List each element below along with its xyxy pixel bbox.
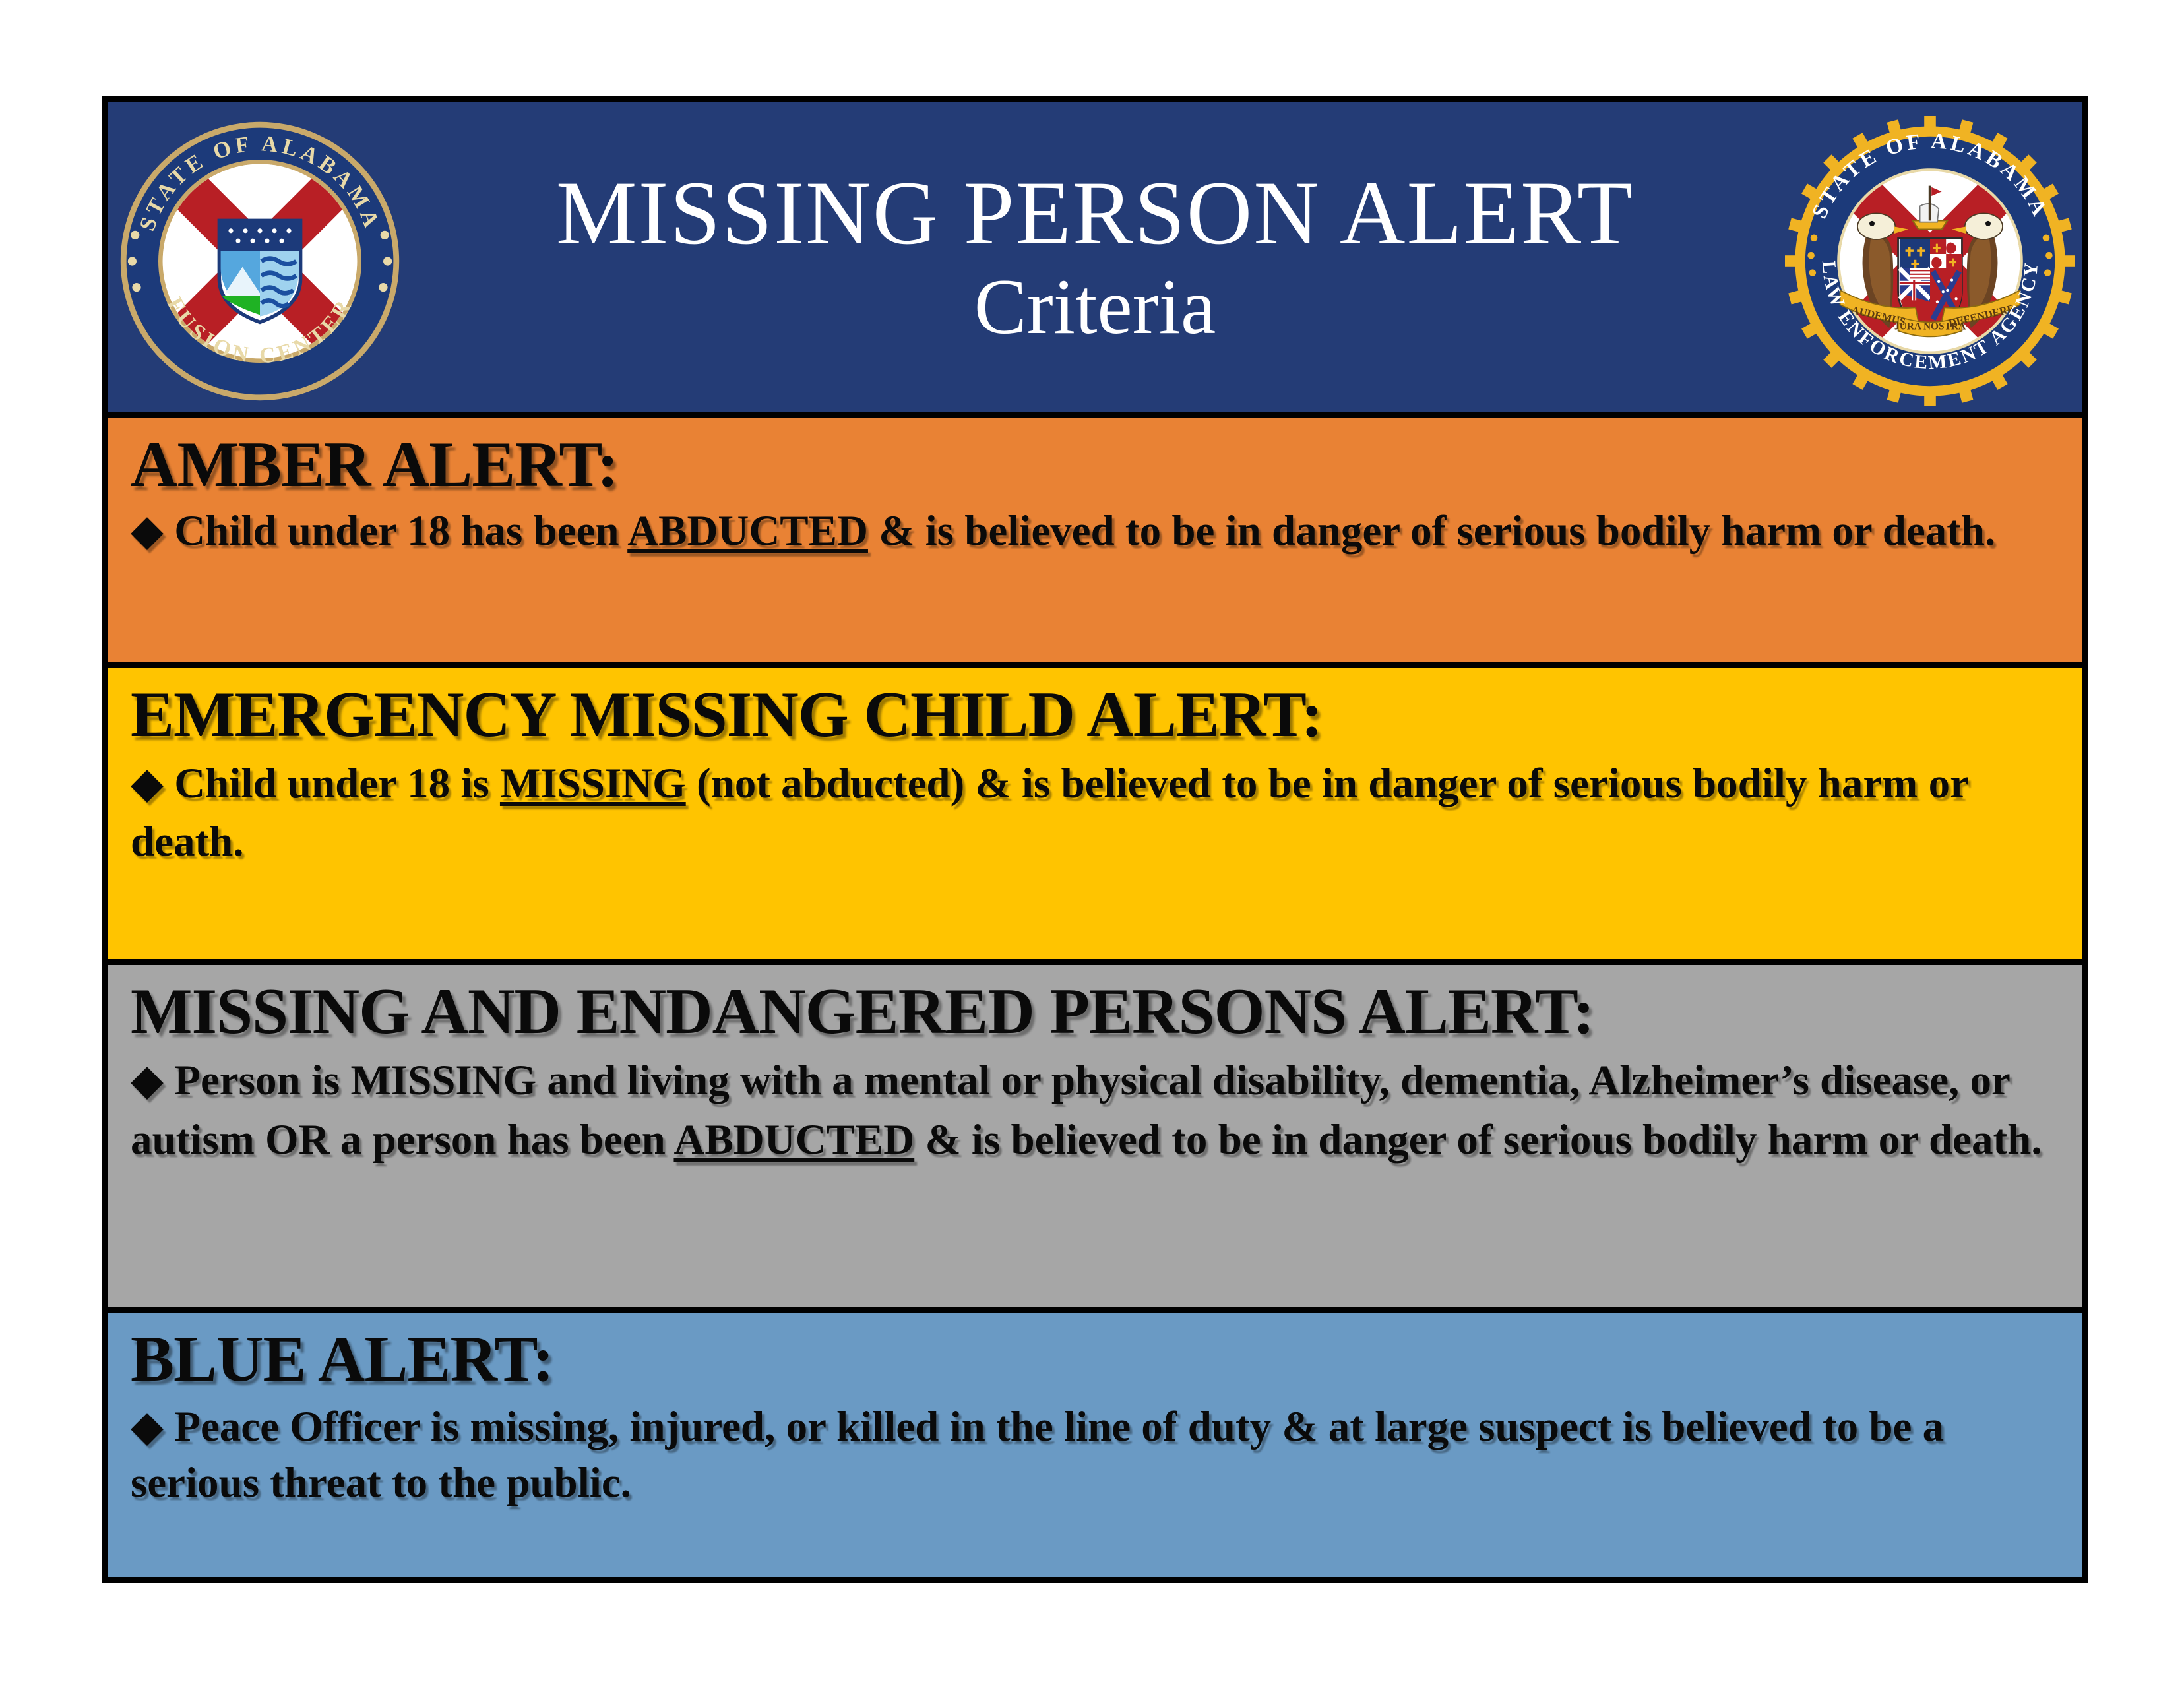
emergency-missing-child-alert-body: ◆ Child under 18 is MISSING (not abducte… [131,755,2059,871]
amber-alert-text-part-3: & is believed to be in danger of serious… [868,507,1995,555]
missing-and-endangered-persons-alert-section: MISSING AND ENDANGERED PERSONS ALERT: ◆ … [108,965,2082,1313]
emergency-missing-child-alert-title: EMERGENCY MISSING CHILD ALERT: [131,680,2059,751]
endangered-text-part-3: & is believed to be in danger of serious… [914,1116,2042,1164]
amber-alert-title: AMBER ALERT: [131,430,2059,501]
missing-and-endangered-persons-alert-title: MISSING AND ENDANGERED PERSONS ALERT: [131,977,2059,1047]
poster-header: STATE OF ALABAMA FUSION CENTER MISSING P… [108,102,2082,418]
amber-alert-body: ◆ Child under 18 has been ABDUCTED & is … [131,505,2059,558]
endangered-emphasis-abducted: ABDUCTED [673,1116,914,1164]
page-subtitle: Criteria [974,264,1216,350]
alabama-fusion-center-seal-icon: STATE OF ALABAMA FUSION CENTER [115,116,405,406]
alabama-law-enforcement-agency-seal-icon: AUDEMUS DEFENDERE JURA NOSTRA STATE OF A… [1785,116,2075,406]
amber-alert-emphasis-abducted: ABDUCTED [627,507,868,555]
blue-alert-body: ◆ Peace Officer is missing, injured, or … [131,1399,2059,1511]
header-title-block: MISSING PERSON ALERT Criteria [418,102,1772,412]
blue-alert-text-part-1: ◆ Peace Officer is missing, injured, or … [131,1403,1944,1507]
blue-alert-section: BLUE ALERT: ◆ Peace Officer is missing, … [108,1313,2082,1577]
emergency-missing-child-emphasis-missing: MISSING [500,760,686,807]
amber-alert-text-part-1: ◆ Child under 18 has been [131,507,627,555]
page-title: MISSING PERSON ALERT [556,167,1634,260]
amber-alert-section: AMBER ALERT: ◆ Child under 18 has been A… [108,418,2082,668]
emergency-missing-child-alert-section: EMERGENCY MISSING CHILD ALERT: ◆ Child u… [108,668,2082,965]
missing-and-endangered-persons-alert-body: ◆ Person is MISSING and living with a me… [131,1051,2059,1169]
emergency-missing-child-text-part-1: ◆ Child under 18 is [131,760,500,807]
missing-person-alert-poster: STATE OF ALABAMA FUSION CENTER MISSING P… [102,96,2088,1583]
svg-text:JURA NOSTRA: JURA NOSTRA [1894,321,1966,332]
blue-alert-title: BLUE ALERT: [131,1324,2059,1395]
